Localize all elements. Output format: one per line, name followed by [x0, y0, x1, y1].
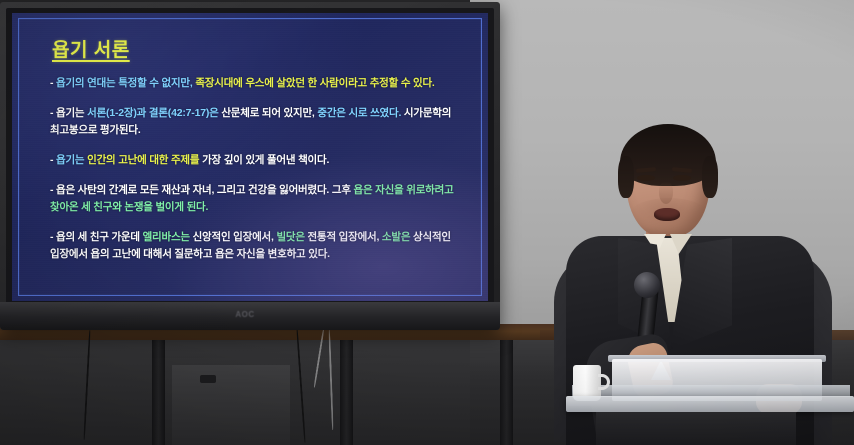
run-text: 빌닷은: [276, 231, 307, 243]
run-text: - 욥기는: [50, 107, 87, 119]
slide-paragraph-5: - 욥의 세 친구 가운데 엘리바스는 신앙적인 입장에서, 빌닷은 전통적 입…: [50, 229, 474, 263]
run-text: 욥기는: [56, 154, 87, 166]
presentation-screen[interactable]: 욥기 서론 - 욥기의 연대는 특정할 수 없지만, 족장시대에 우스에 살았던…: [12, 13, 488, 301]
run-text: 인간의 고난에 대한 주제를: [87, 154, 202, 166]
run-text: - 욥의 세 친구 가운데: [50, 231, 143, 243]
run-text: 서론(1-2장)과 결론(42:7-17)은: [87, 107, 221, 119]
stage-shelf-knob: [200, 375, 216, 383]
slide-title: 욥기 서론: [52, 35, 474, 62]
speaker-eye-right: [673, 175, 691, 181]
presentation-monitor: 욥기 서론 - 욥기의 연대는 특정할 수 없지만, 족장시대에 우스에 살았던…: [0, 2, 500, 330]
stage-pillar: [152, 340, 165, 445]
run-text: 족장시대에 우스에 살았던 한 사람이라고 추정할 수 있다.: [195, 77, 434, 89]
run-text: 산문체로 되어 있지만,: [221, 107, 317, 119]
slide-content: 욥기 서론 - 욥기의 연대는 특정할 수 없지만, 족장시대에 우스에 살았던…: [30, 31, 474, 295]
run-text: 신앙적인 입장에서,: [193, 231, 277, 243]
slide-paragraph-4: - 욥은 사탄의 간계로 모든 재산과 자녀, 그리고 건강을 잃어버렸다. 그…: [50, 182, 474, 216]
podium-top-surface: [566, 396, 854, 412]
stage-pillar: [340, 340, 353, 445]
podium-base: [596, 412, 796, 445]
speaker-hair-side: [618, 156, 634, 198]
run-text: - 욥은 사탄의 간계로 모든 재산과 자녀, 그리고 건강을 잃어버렸다. 그…: [50, 184, 354, 196]
speaker-hair-side: [702, 156, 718, 198]
stage-pillar: [500, 340, 513, 445]
run-text: 욥기의 연대는 특정할 수 없지만,: [56, 77, 195, 89]
speaker-nose: [659, 182, 673, 204]
run-text: 중간은 시로 쓰였다.: [317, 107, 404, 119]
slide-paragraph-1: - 욥기의 연대는 특정할 수 없지만, 족장시대에 우스에 살았던 한 사람이…: [50, 75, 474, 92]
monitor-brand-logo: AOC: [225, 309, 265, 320]
run-text: 전통적 입장에서,: [308, 231, 382, 243]
slide-paragraph-3: - 욥기는 인간의 고난에 대한 주제를 가장 깊이 있게 풀어낸 책이다.: [50, 152, 474, 169]
slide-paragraph-2: - 욥기는 서론(1-2장)과 결론(42:7-17)은 산문체로 되어 있지만…: [50, 105, 474, 139]
run-text: 엘리바스는: [143, 231, 193, 243]
run-text: 소발은: [382, 231, 413, 243]
stage-shelf-box: [172, 365, 290, 445]
speaker-mouth: [654, 208, 680, 221]
screenshot-frame: 욥기 서론 - 욥기의 연대는 특정할 수 없지만, 족장시대에 우스에 살았던…: [0, 0, 854, 445]
speaker-eye-left: [637, 175, 655, 181]
run-text: 가장 깊이 있게 풀어낸 책이다.: [202, 154, 329, 166]
